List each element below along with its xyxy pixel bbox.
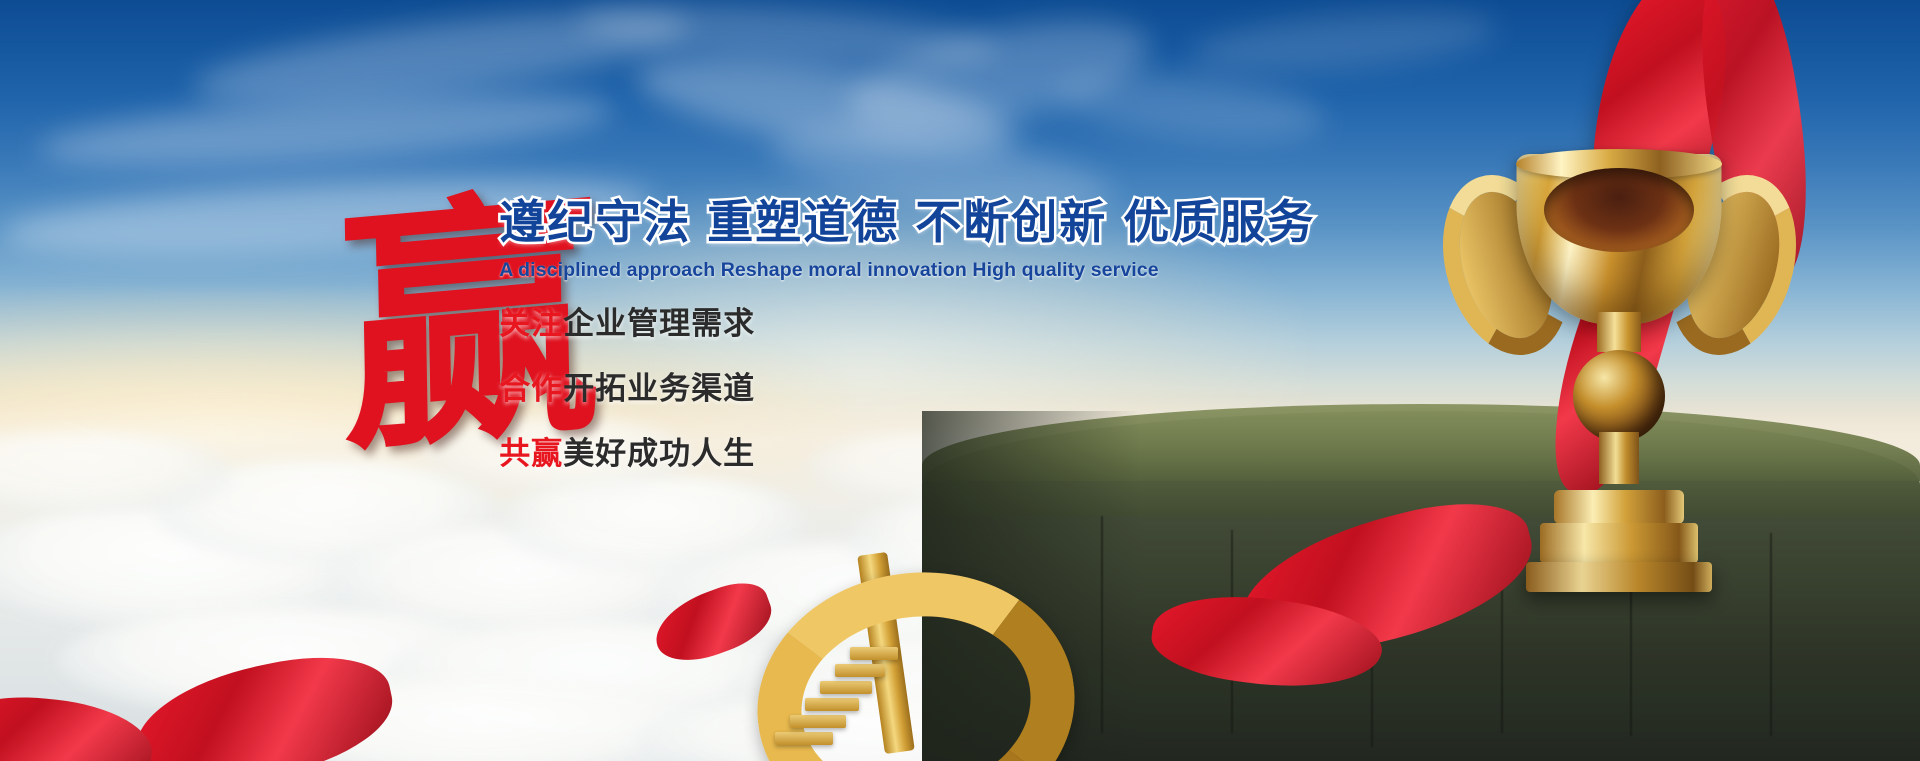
bullet-highlight: 合作 [499,371,563,407]
bullet-line: 共赢美好成功人生 [499,428,1382,473]
bullet-text: 美好成功人生 [563,436,755,472]
headline-word: 优质服务 [1123,195,1315,249]
trophy-base-top [1554,490,1684,524]
trophy-base-bottom [1526,562,1712,592]
subtitle: A disciplined approach Reshape moral inn… [499,259,1382,282]
stair-step [850,647,898,660]
stair-step [835,664,885,677]
bullet-list: 关注企业管理需求合作开拓业务渠道共赢美好成功人生 [499,298,1382,473]
headline-word: 不断创新 [915,195,1107,249]
bullet-text: 开拓业务渠道 [563,371,755,407]
headline-word: 遵纪守法 [499,195,691,249]
trophy-stem [1599,432,1639,484]
bullet-line: 关注企业管理需求 [499,298,1382,343]
trophy-base-middle [1540,523,1698,563]
headline: 遵纪守法重塑道德不断创新优质服务 [499,186,1382,252]
stair-step [790,715,846,728]
bullet-line: 合作开拓业务渠道 [499,363,1382,408]
stair-step [805,698,859,711]
bullet-highlight: 关注 [499,306,563,342]
bullet-text: 企业管理需求 [563,306,755,342]
rock-crack [1101,516,1103,733]
trophy-interior [1544,168,1694,252]
trophy-neck [1597,312,1641,352]
gold-stairs [775,615,935,745]
trophy-knop [1573,350,1665,442]
headline-word: 重塑道德 [707,195,899,249]
promotional-banner: 赢 遵纪守法重塑道德不断创新优质服务 A disciplined approac… [0,0,1920,761]
gold-dollar-sign [739,561,1039,761]
stair-step [820,681,872,694]
text-block: 遵纪守法重塑道德不断创新优质服务 A disciplined approach … [499,186,1382,493]
stair-step [775,732,833,745]
bullet-highlight: 共赢 [499,436,563,472]
